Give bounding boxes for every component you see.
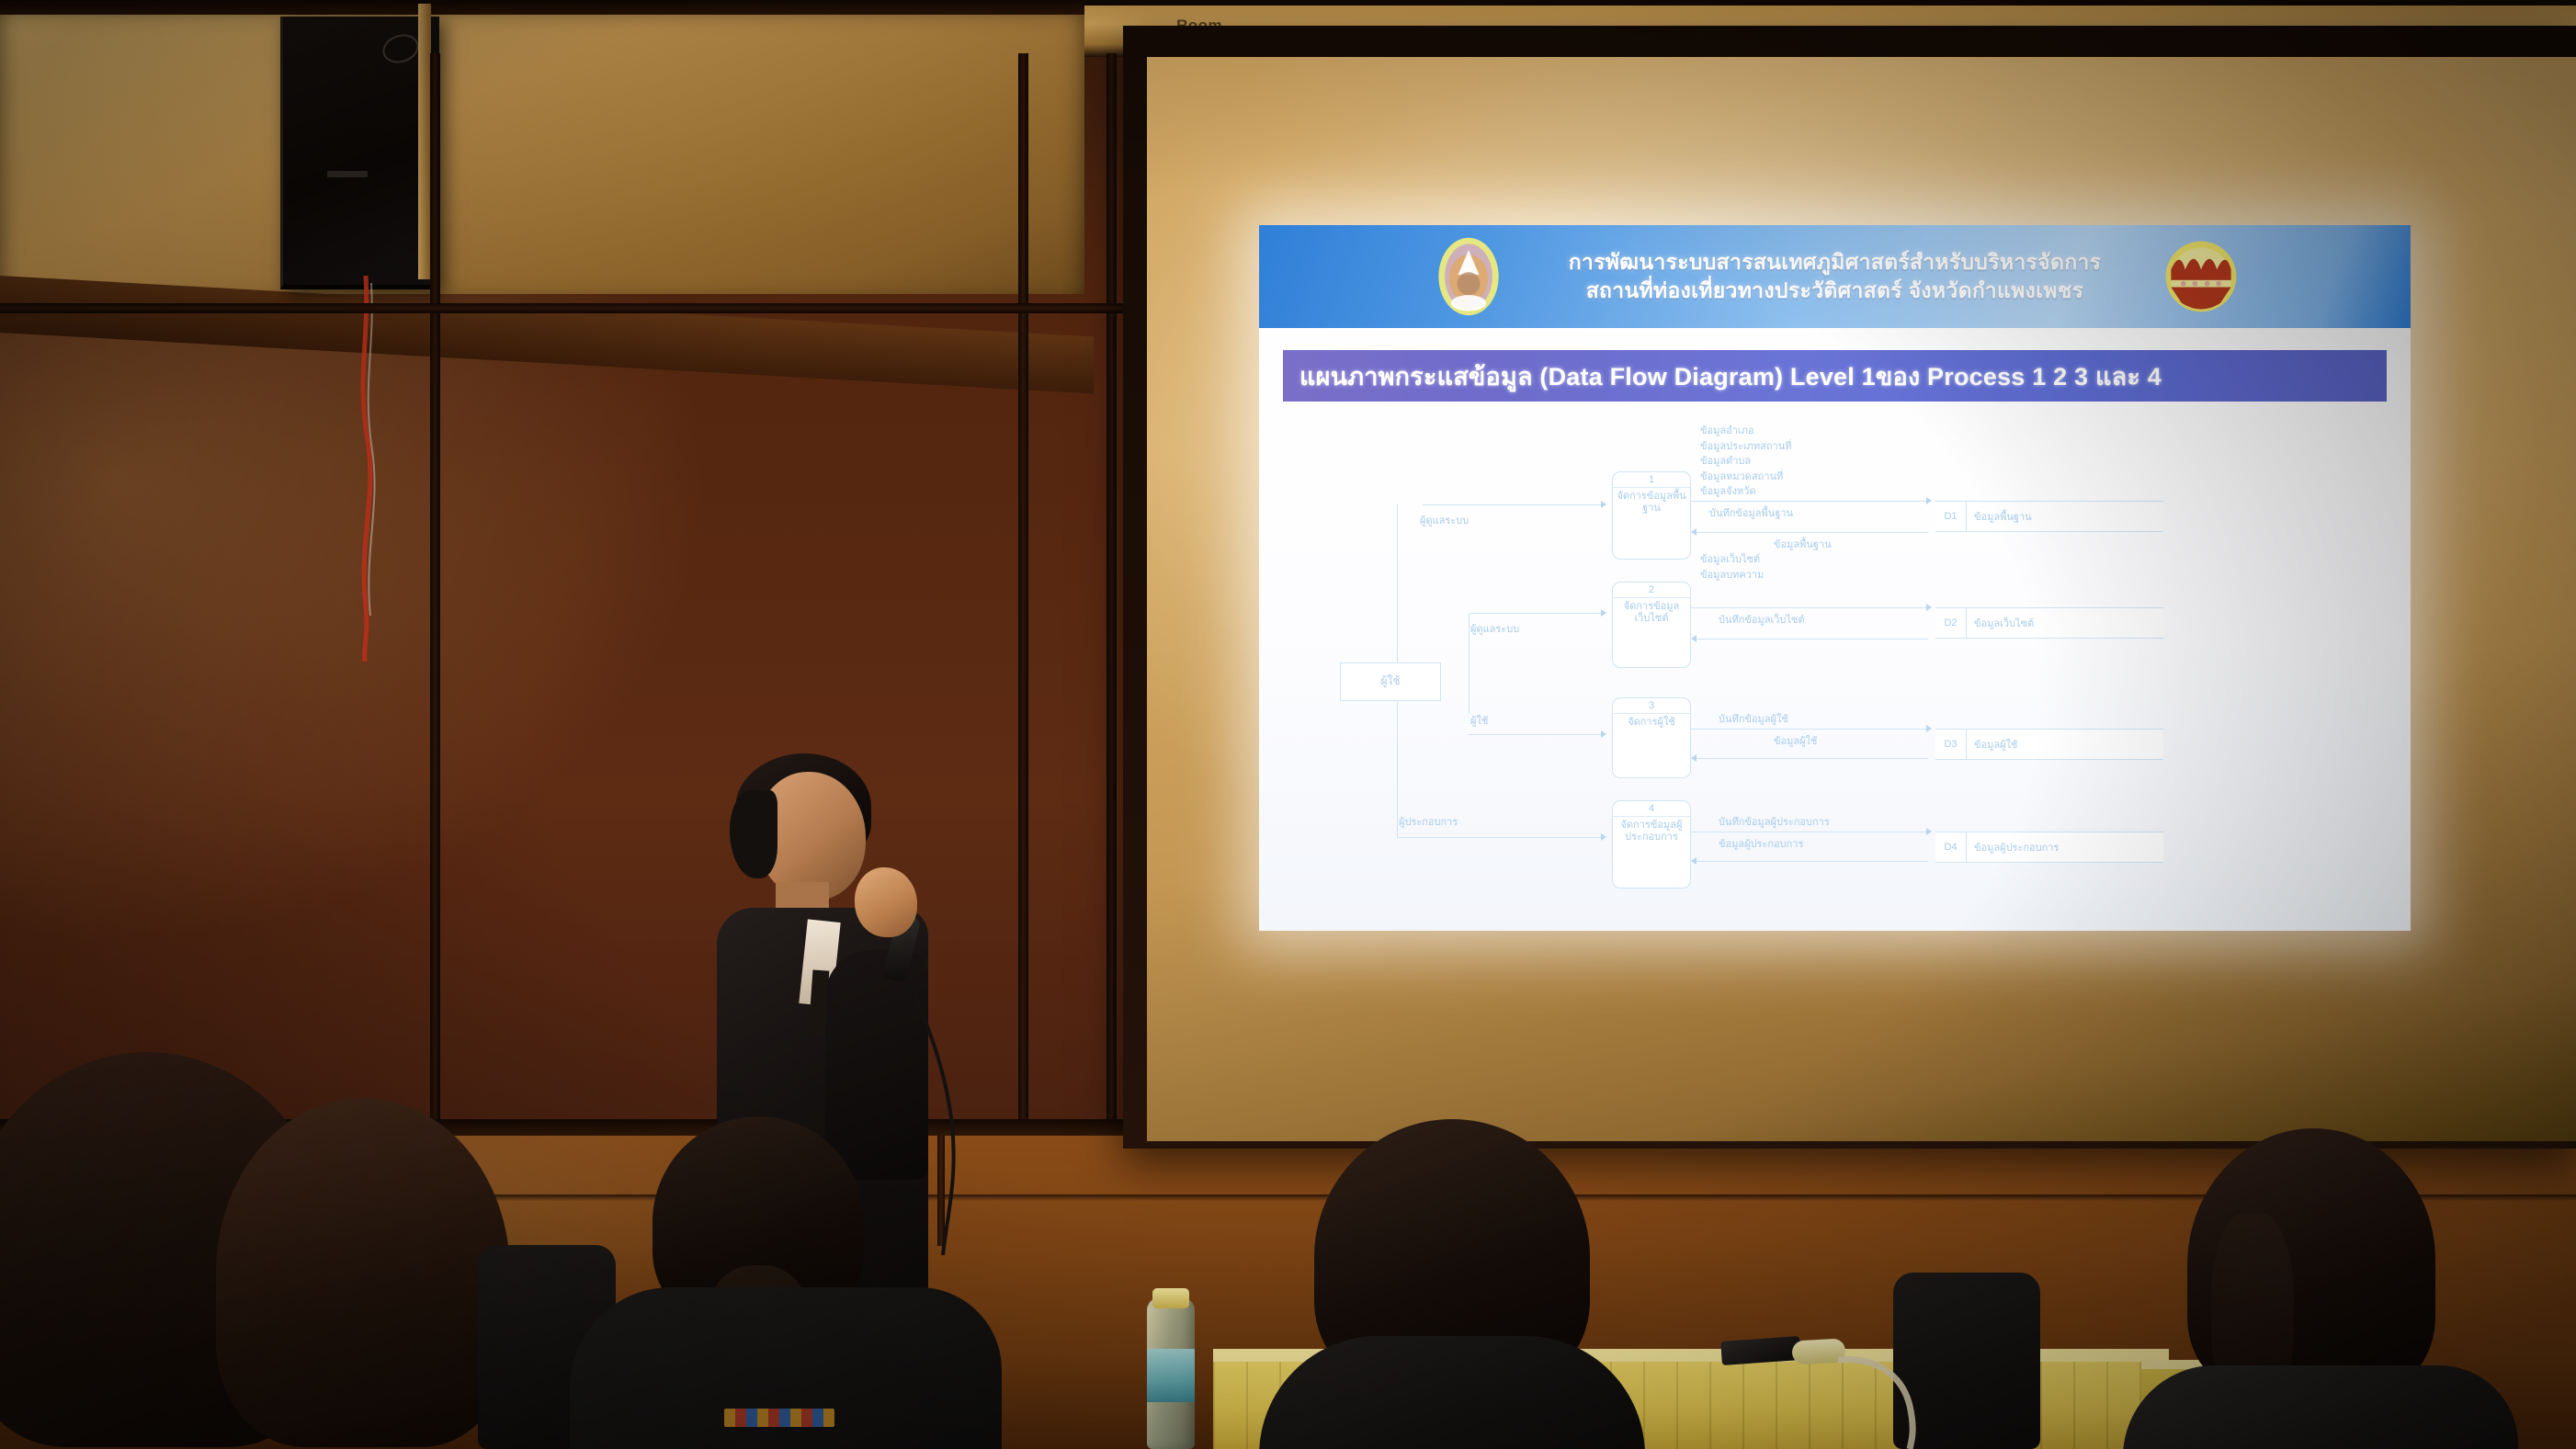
slide-title-bar: แผนภาพกระแสข้อมูล (Data Flow Diagram) Le…: [1283, 350, 2387, 402]
university-emblem-logo: [1424, 232, 1513, 321]
process-1-number: 1: [1613, 472, 1690, 488]
process-2-number: 2: [1613, 583, 1690, 598]
data-store-1-id: D1: [1935, 502, 1967, 531]
microphone-cable: [1838, 1351, 1958, 1449]
data-store-4: D4 ข้อมูลผู้ประกอบการ: [1935, 832, 2163, 863]
entity-trunk-line: [1397, 504, 1398, 662]
arrow-d3-p3: [1691, 754, 1697, 762]
wall-speaker: [280, 17, 439, 289]
slide-title-text: แผนภาพกระแสข้อมูล (Data Flow Diagram) Le…: [1283, 357, 2162, 396]
audience-5-shoulders: [2123, 1365, 2518, 1449]
flow-stack-2-item-1: ข้อมูลบทความ: [1700, 568, 1764, 583]
arrow-p3-d3: [1926, 725, 1932, 732]
data-store-3-label: ข้อมูลผู้ใช้: [1967, 730, 2163, 759]
process-1-label: จัดการข้อมูลพื้นฐาน: [1613, 488, 1690, 517]
flow-stack-1-item-3: ข้อมูลหมวดสถานที่: [1700, 470, 1792, 485]
flow-line-p1-d1: [1691, 501, 1928, 502]
audience-4-shoulders: [1259, 1336, 1645, 1449]
flow-line-p3-d3: [1691, 729, 1928, 730]
data-store-1: D1 ข้อมูลพื้นฐาน: [1935, 501, 2163, 532]
presenter-hair-side: [730, 790, 777, 878]
data-store-4-label: ข้อมูลผู้ประกอบการ: [1967, 832, 2163, 862]
flow-label-from-store-4: ข้อมูลผู้ประกอบการ: [1719, 835, 1803, 852]
water-bottle-label: [1147, 1349, 1195, 1402]
flow-line-d4-p4: [1697, 861, 1928, 862]
flow-line-p2-d2: [1691, 607, 1928, 608]
process-2-label: จัดการข้อมูลเว็บไซต์: [1613, 598, 1690, 628]
flow-line-e1-p1: [1423, 504, 1603, 505]
flow-line-d2-p2: [1697, 639, 1928, 640]
arrow-e2-p2: [1601, 609, 1606, 617]
slide-header: การพัฒนาระบบสารสนเทศภูมิศาสตร์สำหรับบริห…: [1259, 225, 2411, 328]
flow-stack-1-item-0: ข้อมูลอำเภอ: [1700, 424, 1792, 439]
wall-seam-h1: [0, 303, 1123, 313]
flow-line-e3-p3: [1469, 734, 1605, 735]
flow-line-e2-p2: [1470, 613, 1603, 614]
presenter-hand: [855, 867, 917, 937]
soffit-edge: [0, 0, 1098, 15]
process-3-number: 3: [1613, 698, 1690, 714]
arrow-d1-p1: [1691, 528, 1697, 536]
province-seal-logo: [2157, 232, 2245, 321]
audience-member-2: [216, 1098, 519, 1449]
process-1: 1 จัดการข้อมูลพื้นฐาน: [1612, 471, 1691, 560]
arrow-p1-d1: [1926, 497, 1932, 504]
process-4-number: 4: [1613, 801, 1690, 817]
entity-trunk-line-2: [1469, 613, 1470, 714]
audience-member-3: [570, 1116, 1011, 1449]
flow-label-to-store-3: บันทึกข้อมูลผู้ใช้: [1719, 710, 1788, 727]
entity-label-4: ผู้ประกอบการ: [1399, 813, 1458, 830]
process-4: 4 จัดการข้อมูลผู้ประกอบการ: [1612, 800, 1691, 889]
slide-header-line2: สถานที่ท่องเที่ยวทางประวัติศาสตร์ จังหวั…: [1569, 277, 2102, 305]
flow-line-e5-p4: [1397, 837, 1605, 838]
entity-label-1: ผู้ดูแลระบบ: [1420, 512, 1469, 528]
wall-seam-v1: [430, 53, 440, 1138]
water-bottle-cap: [1152, 1288, 1189, 1308]
entity-label-3: ผู้ใช้: [1470, 712, 1488, 729]
external-entity-3: ผู้ใช้: [1340, 662, 1441, 701]
entity-trunk-line-3: [1397, 701, 1398, 837]
speaker-mount-hole: [379, 30, 422, 68]
arrow-d2-p2: [1691, 635, 1697, 642]
presentation-slide: การพัฒนาระบบสารสนเทศภูมิศาสตร์สำหรับบริห…: [1259, 225, 2411, 931]
process-3: 3 จัดการผู้ใช้: [1612, 697, 1691, 778]
slide-header-titles: การพัฒนาระบบสารสนเทศภูมิศาสตร์สำหรับบริห…: [1569, 248, 2102, 305]
arrow-p4-d4: [1926, 828, 1932, 835]
data-store-3-id: D3: [1935, 730, 1967, 759]
flow-label-to-store-4: บันทึกข้อมูลผู้ประกอบการ: [1719, 813, 1830, 830]
audience-2-hair: [216, 1098, 510, 1447]
flow-line-d3-p3: [1697, 758, 1928, 759]
audience-member-5: [2123, 1128, 2509, 1449]
audience-3-medals: [724, 1409, 834, 1427]
entity-label-2: ผู้ดูแลระบบ: [1470, 620, 1519, 637]
data-store-2-label: ข้อมูลเว็บไซต์: [1967, 608, 2163, 638]
data-store-1-label: ข้อมูลพื้นฐาน: [1967, 502, 2163, 531]
conference-room-photo: Room: [0, 0, 2576, 1449]
audience-member-4: [1259, 1119, 1645, 1449]
arrow-e5-p4: [1601, 833, 1606, 841]
arrow-d4-p4: [1691, 857, 1697, 865]
flow-line-p4-d4: [1691, 832, 1928, 832]
arrow-p2-d2: [1926, 604, 1932, 611]
flow-stack-1: ข้อมูลอำเภอ ข้อมูลประเภทสถานที่ ข้อมูลตำ…: [1700, 424, 1792, 500]
flow-stack-2: ข้อมูลเว็บไซต์ ข้อมูลบทความ: [1700, 552, 1764, 583]
data-store-2: D2 ข้อมูลเว็บไซต์: [1935, 607, 2163, 639]
process-4-label: จัดการข้อมูลผู้ประกอบการ: [1613, 817, 1690, 846]
speaker-bracket: [418, 4, 431, 279]
flow-label-to-store-2: บันทึกข้อมูลเว็บไซต์: [1719, 611, 1805, 628]
slide-header-line1: การพัฒนาระบบสารสนเทศภูมิศาสตร์สำหรับบริห…: [1569, 248, 2102, 277]
process-3-label: จัดการผู้ใช้: [1613, 714, 1690, 731]
flow-line-d1-p1: [1697, 532, 1928, 533]
hanging-red-cable: [347, 276, 384, 662]
wall-seam-v2: [1018, 53, 1028, 1138]
flow-stack-1-item-1: ข้อมูลประเภทสถานที่: [1700, 439, 1792, 455]
flow-label-from-store-1: ข้อมูลพื้นฐาน: [1774, 536, 1832, 552]
speaker-brand-plate: [327, 171, 368, 177]
data-flow-diagram: ข้อมูลอำเภอ ข้อมูลประเภทสถานที่ ข้อมูลตำ…: [1259, 416, 2411, 931]
flow-label-from-store-3: ข้อมูลผู้ใช้: [1774, 732, 1817, 749]
wall-seam-v3: [1106, 53, 1117, 1138]
ceiling-soffit: [0, 0, 1084, 294]
data-store-2-id: D2: [1935, 608, 1967, 638]
data-store-3: D3 ข้อมูลผู้ใช้: [1935, 729, 2163, 760]
process-2: 2 จัดการข้อมูลเว็บไซต์: [1612, 582, 1691, 668]
arrow-e1-p1: [1601, 501, 1606, 508]
flow-stack-1-item-4: ข้อมูลจังหวัด: [1700, 484, 1792, 500]
data-store-4-id: D4: [1935, 832, 1967, 862]
flow-label-to-store-1: บันทึกข้อมูลพื้นฐาน: [1709, 504, 1793, 521]
flow-stack-1-item-2: ข้อมูลตำบล: [1700, 454, 1792, 470]
arrow-e3-p3: [1601, 730, 1606, 738]
flow-stack-2-item-0: ข้อมูลเว็บไซต์: [1700, 552, 1764, 568]
